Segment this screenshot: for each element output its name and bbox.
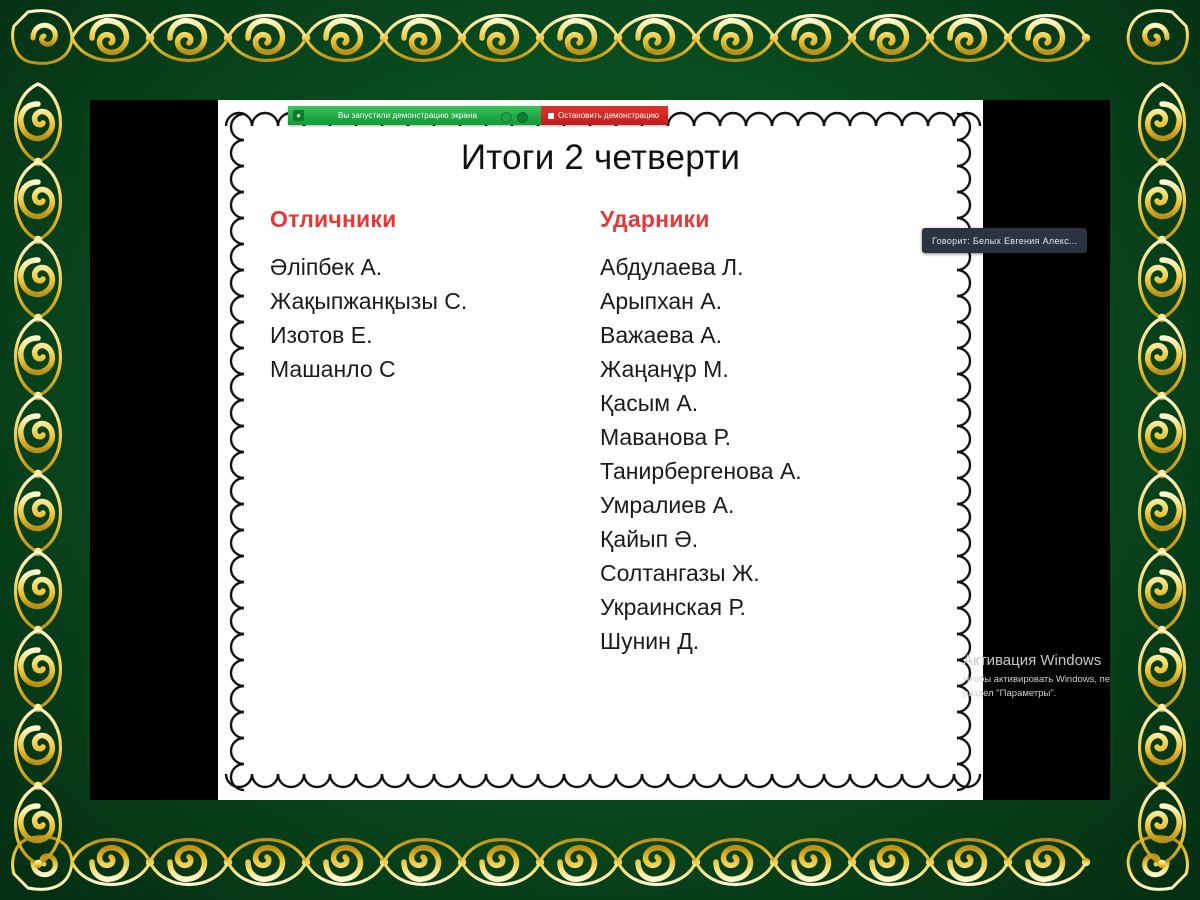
slide-title: Итоги 2 четверти	[218, 138, 983, 178]
ornament-border-right	[1110, 0, 1200, 900]
student-name: Жаңанұр М.	[600, 352, 940, 386]
column-good-students: Ударники Абдулаева Л. Арыпхан А. Важаева…	[600, 206, 940, 658]
ornament-border-top	[0, 0, 1200, 90]
student-name: Жақыпжанқызы С.	[270, 284, 570, 318]
activation-title: Активация Windows	[963, 652, 1110, 669]
screen-share-viewport: Итоги 2 четверти Отличники Әліпбек А. Жа…	[90, 100, 1110, 800]
presentation-page: Итоги 2 четверти Отличники Әліпбек А. Жа…	[0, 0, 1200, 900]
student-name: Арыпхан А.	[600, 284, 940, 318]
student-name: Солтангазы Ж.	[600, 556, 940, 590]
column-heading-good: Ударники	[600, 206, 940, 233]
ornament-border-bottom	[0, 810, 1200, 900]
student-name: Умралиев А.	[600, 488, 940, 522]
activation-line-1: Чтобы активировать Windows, перейдите в	[963, 673, 1110, 687]
student-name: Машанло С	[270, 352, 570, 386]
activation-line-2: раздел "Параметры".	[963, 687, 1110, 701]
student-name: Қайып Ә.	[600, 522, 940, 556]
active-speaker-label: Говорит: Белых Евгения Алекс...	[932, 236, 1077, 246]
stop-square-icon	[548, 113, 554, 119]
student-name: Қасым А.	[600, 386, 940, 420]
windows-activation-watermark: Активация Windows Чтобы активировать Win…	[963, 652, 1110, 701]
student-name: Абдулаева Л.	[600, 250, 940, 284]
student-name: Украинская Р.	[600, 590, 940, 624]
ornament-border-left	[0, 0, 90, 900]
share-status-region: ● Вы запустили демонстрацию экрана	[288, 106, 541, 125]
column-excellent-students: Отличники Әліпбек А. Жақыпжанқызы С. Изо…	[270, 206, 570, 386]
stop-share-button[interactable]: Остановить демонстрацию	[541, 106, 668, 125]
share-status-label: Вы запустили демонстрацию экрана	[310, 111, 495, 120]
column-heading-excellent: Отличники	[270, 206, 570, 233]
student-name: Маванова Р.	[600, 420, 940, 454]
presentation-slide: Итоги 2 четверти Отличники Әліпбек А. Жа…	[218, 100, 983, 800]
student-name: Шунин Д.	[600, 624, 940, 658]
student-name: Танирбергенова А.	[600, 454, 940, 488]
pause-circle-icon[interactable]	[501, 112, 512, 123]
zoom-icon: ●	[293, 110, 304, 121]
shield-icon[interactable]	[517, 112, 528, 123]
stop-share-label: Остановить демонстрацию	[558, 111, 659, 120]
student-name: Важаева А.	[600, 318, 940, 352]
active-speaker-tooltip: Говорит: Белых Евгения Алекс...	[922, 228, 1087, 253]
student-name: Әліпбек А.	[270, 250, 570, 284]
screen-share-notification-bar[interactable]: ● Вы запустили демонстрацию экрана Остан…	[288, 106, 668, 125]
student-name: Изотов Е.	[270, 318, 570, 352]
